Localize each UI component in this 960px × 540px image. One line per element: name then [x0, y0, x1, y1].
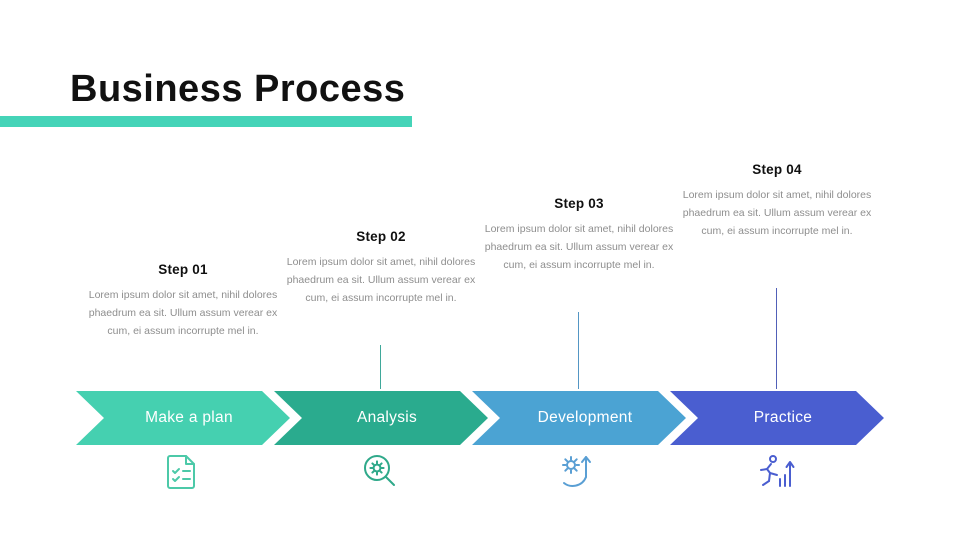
step-text-block-2: Step 02 Lorem ipsum dolor sit amet, nihi… [286, 229, 476, 307]
step-heading-1: Step 01 [88, 262, 278, 277]
page-title: Business Process [70, 68, 405, 111]
icon-slot-1 [152, 452, 212, 494]
chevron-label-2: Analysis [357, 409, 417, 427]
title-accent-bar [0, 116, 412, 127]
connector-line-4 [776, 288, 777, 389]
step-text-block-3: Step 03 Lorem ipsum dolor sit amet, nihi… [484, 196, 674, 274]
chevron-label-1: Make a plan [145, 409, 233, 427]
icon-slot-3 [548, 452, 608, 494]
step-text-block-4: Step 04 Lorem ipsum dolor sit amet, nihi… [682, 162, 872, 240]
checklist-document-icon [165, 453, 199, 494]
chevron-step-2[interactable]: Analysis [274, 391, 488, 445]
magnifier-gear-icon [362, 453, 398, 494]
icon-slot-4 [746, 452, 806, 494]
step-heading-2: Step 02 [286, 229, 476, 244]
slide-canvas: Business Process Step 01 Lorem ipsum dol… [0, 0, 960, 540]
icon-slot-2 [350, 452, 410, 494]
running-person-growth-icon [756, 453, 796, 494]
chevron-step-1[interactable]: Make a plan [76, 391, 290, 445]
chevron-label-3: Development [538, 409, 633, 427]
chevron-step-4[interactable]: Practice [670, 391, 884, 445]
chevron-label-4: Practice [754, 409, 812, 427]
connector-line-2 [380, 345, 381, 389]
step-text-block-1: Step 01 Lorem ipsum dolor sit amet, nihi… [88, 262, 278, 340]
step-heading-4: Step 04 [682, 162, 872, 177]
chevron-step-3[interactable]: Development [472, 391, 686, 445]
step-body-2: Lorem ipsum dolor sit amet, nihil dolore… [286, 253, 476, 307]
process-chevron-band: Make a plan Analysis Development Practic… [0, 391, 960, 445]
step-heading-3: Step 03 [484, 196, 674, 211]
step-body-4: Lorem ipsum dolor sit amet, nihil dolore… [682, 186, 872, 240]
connector-line-3 [578, 312, 579, 389]
step-body-3: Lorem ipsum dolor sit amet, nihil dolore… [484, 220, 674, 274]
step-body-1: Lorem ipsum dolor sit amet, nihil dolore… [88, 286, 278, 340]
gear-arrow-up-icon [558, 453, 598, 494]
